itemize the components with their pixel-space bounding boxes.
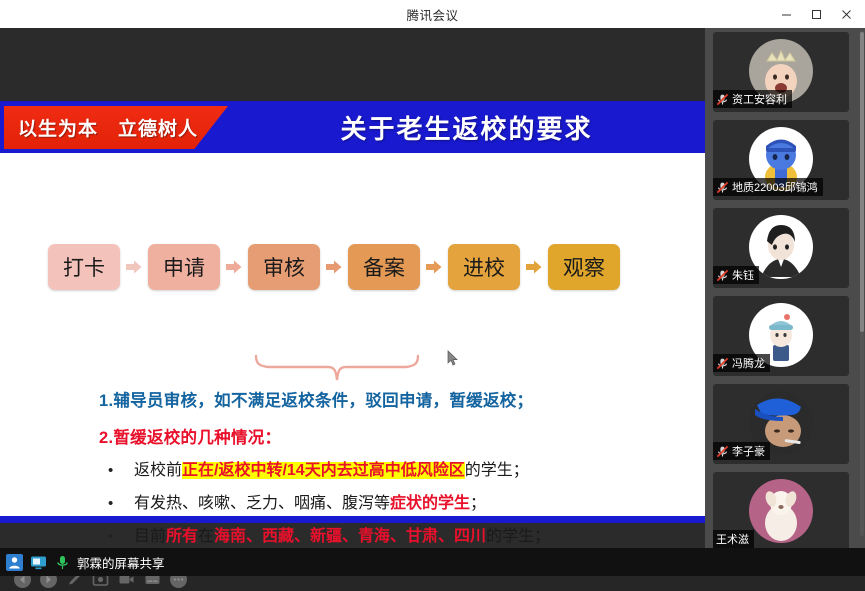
- participant-nameplate: 地质22003邱锦鸿: [713, 178, 823, 196]
- flow-brace: [252, 354, 422, 382]
- participant-nameplate: 冯腾龙: [713, 354, 770, 372]
- flow-step-6: 观察: [548, 244, 620, 290]
- numbered-line-1: 1.辅导员审核，如不满足返校条件，驳回申请，暂缓返校；: [99, 387, 533, 411]
- bullet-text: 有发热、咳嗽、乏力、咽痛、腹泻等症状的学生；: [134, 492, 486, 516]
- mouse-cursor: [447, 350, 459, 372]
- flow-arrow-icon: [420, 244, 448, 290]
- mic-muted-icon: [716, 93, 729, 106]
- bullet-marker: •: [104, 525, 134, 549]
- bullet-segment: 海南、西藏、新疆、青海、甘肃、四川: [214, 528, 486, 545]
- flow-arrow-icon: [220, 244, 248, 290]
- flow-step-label: 进校: [463, 252, 505, 282]
- bullet-marker: •: [104, 459, 134, 483]
- bullet-segment: 的学生；: [486, 528, 550, 545]
- bullet-item: •返校前正在/返校中转/14天内去过高中低风险区的学生；: [104, 459, 664, 485]
- mic-muted-icon: [716, 357, 729, 370]
- flow-step-label: 观察: [563, 252, 605, 282]
- bullet-segment: 返校前: [134, 462, 182, 479]
- screen-share-status-text: 郭霖的屏幕共享: [77, 553, 165, 572]
- mic-muted-icon: [716, 269, 729, 282]
- window-title-bar: 腾讯会议: [0, 0, 865, 29]
- flow-step-4: 备案: [348, 244, 420, 290]
- flow-step-label: 申请: [163, 252, 205, 282]
- participant-name: 冯腾龙: [732, 355, 765, 371]
- status-bar: 郭霖的屏幕共享: [0, 548, 865, 576]
- ribbon-text: 以生为本 立德树人: [4, 114, 198, 141]
- bullet-segment: 的学生；: [465, 462, 529, 479]
- participant-name: 李子豪: [732, 443, 765, 459]
- screen-share-icon[interactable]: [29, 553, 48, 572]
- bullet-segment: ；: [470, 495, 486, 512]
- participant-nameplate: 资工安容利: [713, 90, 792, 108]
- flow-step-label: 备案: [363, 252, 405, 282]
- bullet-segment: 正在/返校中转/14天内去过高中低风险区: [182, 462, 465, 479]
- tencent-meeting-window: 腾讯会议 以生为本 立德树人 关于老生返校的要求 打卡申请审核备: [0, 0, 865, 576]
- shared-screen-area[interactable]: 以生为本 立德树人 关于老生返校的要求 打卡申请审核备案进校观察 1.辅导员审核…: [0, 28, 705, 548]
- flow-step-label: 审核: [263, 252, 305, 282]
- participant-tile[interactable]: 冯腾龙: [713, 296, 849, 376]
- numbered-line-2: 2.暂缓返校的几种情况：: [99, 424, 281, 448]
- participant-tile[interactable]: 地质22003邱锦鸿: [713, 120, 849, 200]
- flow-step-5: 进校: [448, 244, 520, 290]
- slide-title: 关于老生返校的要求: [228, 101, 705, 153]
- bullet-segment: 症状的学生: [390, 495, 470, 512]
- bullet-marker: •: [104, 492, 134, 516]
- participant-video-strip[interactable]: 资工安容利地质22003邱锦鸿朱钰冯腾龙李子豪王术滋: [705, 28, 865, 548]
- participant-name: 地质22003邱锦鸿: [732, 179, 818, 195]
- participant-icon[interactable]: [5, 553, 24, 572]
- flow-step-2: 申请: [148, 244, 220, 290]
- participant-nameplate: 李子豪: [713, 442, 770, 460]
- flow-arrow-icon: [520, 244, 548, 290]
- bullet-segment: 所有: [166, 528, 198, 545]
- participant-nameplate: 朱钰: [713, 266, 759, 284]
- avatar: [749, 479, 813, 543]
- participant-name: 王术滋: [716, 531, 749, 547]
- participant-tile[interactable]: 资工安容利: [713, 32, 849, 112]
- minimize-button[interactable]: [771, 1, 801, 27]
- bullet-text: 目前所有在海南、西藏、新疆、青海、甘肃、四川的学生；: [134, 525, 550, 549]
- participant-nameplate: 王术滋: [713, 530, 754, 548]
- mic-muted-icon: [716, 445, 729, 458]
- participant-tile[interactable]: 李子豪: [713, 384, 849, 464]
- participant-name: 朱钰: [732, 267, 754, 283]
- participant-tile[interactable]: 朱钰: [713, 208, 849, 288]
- window-title: 腾讯会议: [0, 0, 865, 28]
- slide-header: 以生为本 立德树人 关于老生返校的要求: [0, 101, 705, 153]
- bullet-segment: 有发热、咳嗽、乏力、咽痛、腹泻等: [134, 495, 390, 512]
- bullet-item: •有发热、咳嗽、乏力、咽痛、腹泻等症状的学生；: [104, 492, 664, 518]
- participant-tile[interactable]: 王术滋: [713, 472, 849, 552]
- microphone-icon[interactable]: [53, 553, 72, 572]
- maximize-button[interactable]: [801, 1, 831, 27]
- mic-muted-icon: [716, 181, 729, 194]
- slide-ribbon-banner: 以生为本 立德树人: [4, 106, 228, 149]
- flow-arrow-icon: [120, 244, 148, 290]
- participant-scrollbar-thumb[interactable]: [860, 32, 864, 332]
- presentation-slide: 以生为本 立德树人 关于老生返校的要求 打卡申请审核备案进校观察 1.辅导员审核…: [0, 101, 705, 523]
- bullet-text: 返校前正在/返校中转/14天内去过高中低风险区的学生；: [134, 459, 529, 483]
- slide-bottom-bar: [0, 516, 705, 523]
- flow-step-3: 审核: [248, 244, 320, 290]
- window-controls: [771, 0, 861, 28]
- bullet-segment: 目前: [134, 528, 166, 545]
- process-flow-diagram: 打卡申请审核备案进校观察: [48, 244, 620, 290]
- close-button[interactable]: [831, 1, 861, 27]
- bullet-segment: 在: [198, 528, 214, 545]
- participant-name: 资工安容利: [732, 91, 787, 107]
- flow-step-label: 打卡: [63, 252, 105, 282]
- flow-arrow-icon: [320, 244, 348, 290]
- flow-step-1: 打卡: [48, 244, 120, 290]
